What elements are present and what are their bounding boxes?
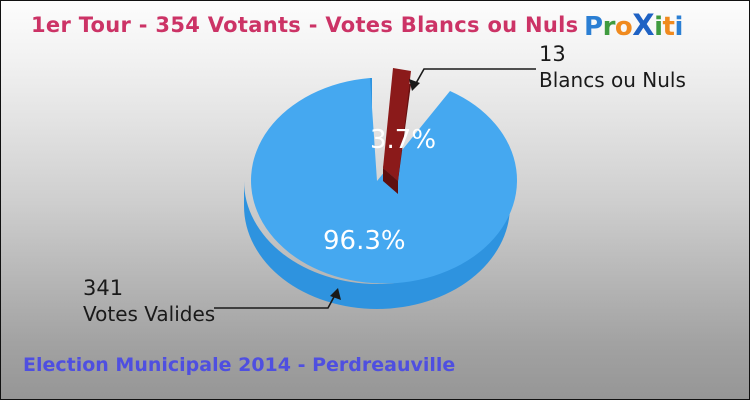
callout-blancs-label: Blancs ou Nuls xyxy=(539,67,686,93)
chart-canvas: 1er Tour - 354 Votants - Votes Blancs ou… xyxy=(0,0,750,400)
callout-blancs-count: 13 xyxy=(539,41,686,67)
callout-valides-label: Votes Valides xyxy=(83,301,215,327)
callout-valides-count: 341 xyxy=(83,275,215,301)
leader-arrowhead-blancs xyxy=(409,79,420,91)
pie-slice-votes-valides[interactable] xyxy=(244,78,517,309)
leader-blancs-ou-nuls xyxy=(409,69,536,91)
callout-blancs-ou-nuls: 13 Blancs ou Nuls xyxy=(539,41,686,93)
leader-line-blancs xyxy=(415,69,536,85)
callout-votes-valides: 341 Votes Valides xyxy=(83,275,215,327)
footer-caption: Election Municipale 2014 - Perdreauville xyxy=(23,354,455,376)
